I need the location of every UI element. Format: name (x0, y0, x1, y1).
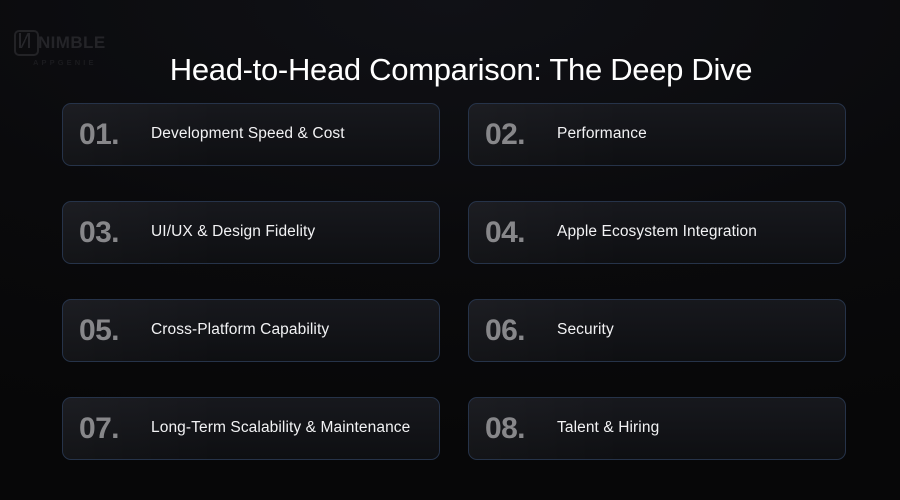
card-label: Performance (557, 124, 831, 144)
comparison-card-04[interactable]: 04. Apple Ecosystem Integration (468, 201, 846, 264)
card-number: 07. (79, 414, 151, 444)
comparison-card-01[interactable]: 01. Development Speed & Cost (62, 103, 440, 166)
card-label: Talent & Hiring (557, 418, 831, 438)
comparison-card-02[interactable]: 02. Performance (468, 103, 846, 166)
comparison-card-06[interactable]: 06. Security (468, 299, 846, 362)
slide-header: NIMBLE APPGENIE Head-to-Head Comparison:… (0, 0, 900, 96)
comparison-card-05[interactable]: 05. Cross-Platform Capability (62, 299, 440, 362)
comparison-card-grid: 01. Development Speed & Cost 02. Perform… (62, 103, 846, 460)
card-number: 08. (485, 414, 557, 444)
card-number: 06. (485, 316, 557, 346)
card-label: Development Speed & Cost (151, 124, 425, 144)
slide-root: NIMBLE APPGENIE Head-to-Head Comparison:… (0, 0, 900, 500)
card-label: Apple Ecosystem Integration (557, 222, 831, 242)
page-title: Head-to-Head Comparison: The Deep Dive (0, 51, 900, 90)
card-number: 05. (79, 316, 151, 346)
card-number: 02. (485, 120, 557, 150)
card-number: 04. (485, 218, 557, 248)
comparison-card-03[interactable]: 03. UI/UX & Design Fidelity (62, 201, 440, 264)
card-label: Security (557, 320, 831, 340)
comparison-card-07[interactable]: 07. Long-Term Scalability & Maintenance (62, 397, 440, 460)
card-label: Long-Term Scalability & Maintenance (151, 418, 425, 438)
card-label: UI/UX & Design Fidelity (151, 222, 425, 242)
card-number: 03. (79, 218, 151, 248)
brand-name: NIMBLE (38, 34, 106, 51)
card-number: 01. (79, 120, 151, 150)
card-label: Cross-Platform Capability (151, 320, 425, 340)
comparison-card-08[interactable]: 08. Talent & Hiring (468, 397, 846, 460)
